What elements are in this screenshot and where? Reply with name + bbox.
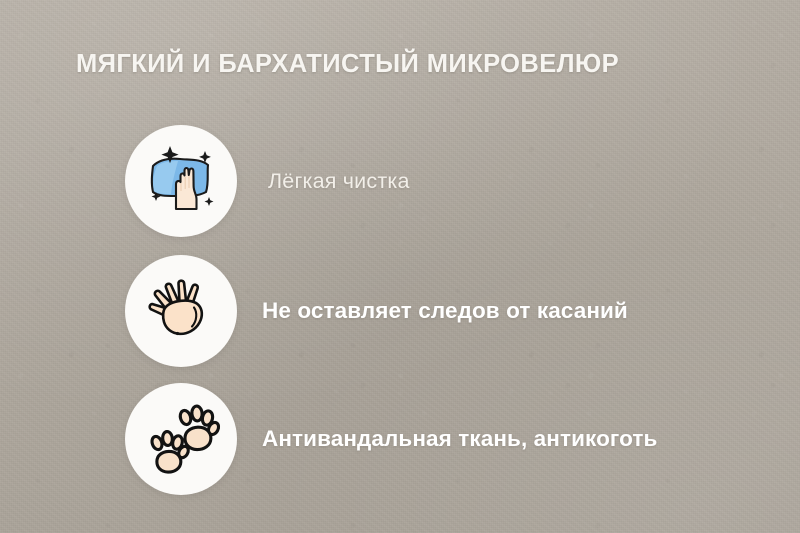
feature-item-no-touch-marks: Не оставляет следов от касаний: [125, 255, 628, 367]
feature-label: Лёгкая чистка: [268, 169, 410, 194]
promo-slide: МЯГКИЙ И БАРХАТИСТЫЙ МИКРОВЕЛЮР: [0, 0, 800, 533]
feature-item-anti-claw-fabric: Антивандальная ткань, антикоготь: [125, 383, 657, 495]
paw-prints-icon: [141, 399, 221, 479]
feature-icon-badge: [125, 125, 237, 237]
cloth-wipe-hand-icon: [139, 139, 223, 223]
feature-label: Не оставляет следов от касаний: [262, 298, 628, 324]
feature-item-easy-cleaning: Лёгкая чистка: [125, 125, 410, 237]
open-palm-hand-icon: [141, 271, 221, 351]
feature-icon-badge: [125, 255, 237, 367]
feature-label: Антивандальная ткань, антикоготь: [262, 426, 657, 452]
feature-list: Лёгкая чистка: [0, 0, 800, 533]
feature-icon-badge: [125, 383, 237, 495]
